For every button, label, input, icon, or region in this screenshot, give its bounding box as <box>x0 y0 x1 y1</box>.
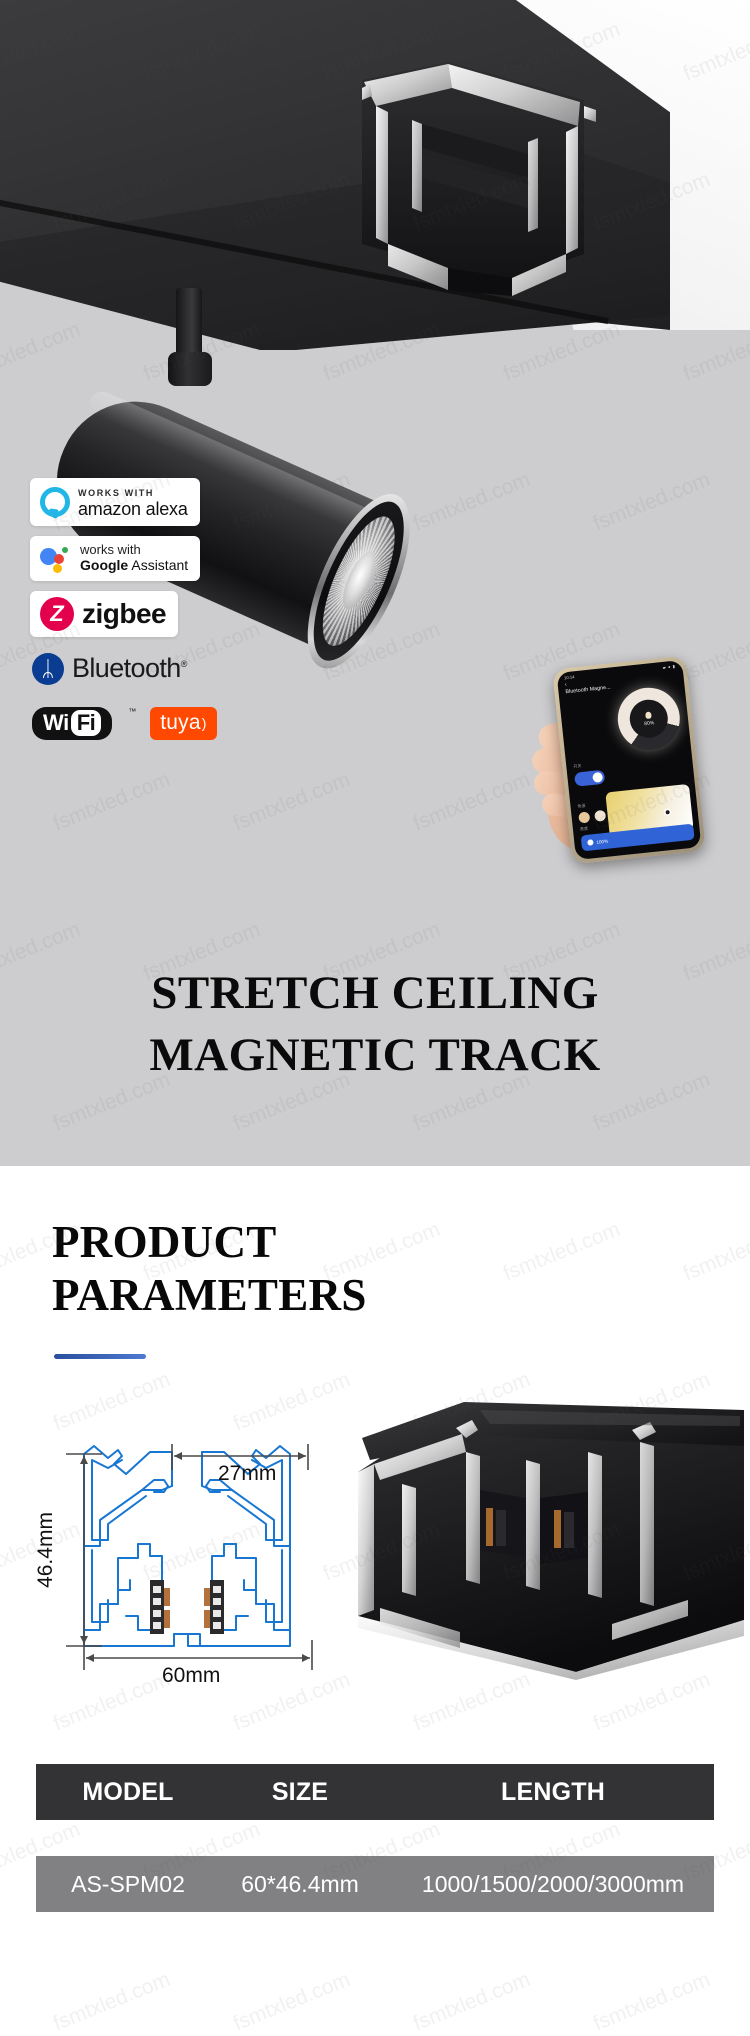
badge-amazon-alexa: WORKS WITH amazon alexa <box>30 478 200 526</box>
parameters-heading-line1: PRODUCT <box>52 1217 277 1267</box>
parameters-heading: PRODUCT PARAMETERS <box>52 1216 367 1322</box>
google-text: works with Google Assistant <box>80 542 188 575</box>
bluetooth-icon: ᛦ <box>32 653 64 685</box>
cell-size: 60*46.4mm <box>216 1871 384 1898</box>
alexa-ring-icon <box>40 487 70 517</box>
product-parameters-section: PRODUCT PARAMETERS <box>0 1166 750 1956</box>
hero-headline: STRETCH CEILING MAGNETIC TRACK <box>0 962 750 1086</box>
sun-icon <box>587 839 594 846</box>
table-row: AS-SPM02 60*46.4mm 1000/1500/2000/3000mm <box>36 1856 714 1912</box>
column-header-size: SIZE <box>216 1778 384 1807</box>
smartphone-mockup: 10:14 ▰ ● ▮ ‹ Bluetooth Magne... 80% 开关 … <box>552 656 706 865</box>
ceiling-track-photo <box>0 0 750 350</box>
specification-table: MODEL SIZE LENGTH AS-SPM02 60*46.4mm 100… <box>36 1764 714 1912</box>
column-header-length: LENGTH <box>384 1778 714 1807</box>
alexa-brand-label: amazon alexa <box>78 499 188 519</box>
compatibility-badge-list: WORKS WITH amazon alexa works with Googl… <box>30 478 290 746</box>
watermark-text: fsmtxled.com <box>50 1968 174 2036</box>
badge-bluetooth: ᛦ Bluetooth® <box>30 647 199 691</box>
zigbee-label: zigbee <box>82 598 166 630</box>
tuya-wave-glyph: ) <box>202 715 207 731</box>
phone-screen: 10:14 ▰ ● ▮ ‹ Bluetooth Magne... 80% 开关 … <box>557 660 702 860</box>
dimension-label-46mm: 46.4mm <box>34 1512 57 1588</box>
picker-handle[interactable] <box>665 810 669 814</box>
power-row: 开关 <box>566 751 694 787</box>
tuya-icon: tuya) <box>150 707 216 740</box>
dimension-label-60mm: 60mm <box>162 1664 220 1684</box>
track-rail-cross-section <box>352 58 614 296</box>
color-swatch[interactable] <box>594 810 606 822</box>
color-swatch[interactable] <box>578 811 590 823</box>
power-toggle[interactable] <box>574 770 605 787</box>
bluetooth-registered-mark: ® <box>181 659 187 669</box>
wifi-trademark: ™ <box>128 707 136 716</box>
brightness-value: 100% <box>596 838 608 844</box>
dial-center: 80% <box>628 698 670 740</box>
google-works-with-label: works with <box>80 542 141 557</box>
table-header-row: MODEL SIZE LENGTH <box>36 1764 714 1820</box>
cell-length: 1000/1500/2000/3000mm <box>384 1871 714 1898</box>
watermark-text: fsmtxled.com <box>230 1968 354 2036</box>
hero-section: 10:14 ▰ ● ▮ ‹ Bluetooth Magne... 80% 开关 … <box>0 0 750 1166</box>
badge-zigbee: Z zigbee <box>30 591 178 637</box>
google-assistant-dots-icon <box>40 545 72 571</box>
power-label: 开关 <box>566 751 692 770</box>
hero-headline-line1: STRETCH CEILING <box>151 967 599 1019</box>
brightness-dial[interactable]: 80% <box>615 685 683 753</box>
dial-percent: 80% <box>644 720 655 727</box>
column-header-model: MODEL <box>36 1778 216 1807</box>
track-extrusion-photo <box>340 1380 750 1680</box>
google-brand-label: Google Assistant <box>80 557 188 573</box>
alexa-text: WORKS WITH amazon alexa <box>78 484 188 520</box>
parameters-heading-line2: PARAMETERS <box>52 1270 367 1320</box>
wifi-icon: WiFi <box>32 707 112 740</box>
watermark-text: fsmtxled.com <box>410 1968 534 2036</box>
cell-model: AS-SPM02 <box>36 1871 216 1898</box>
zigbee-icon: Z <box>40 597 74 631</box>
badge-google-assistant: works with Google Assistant <box>30 536 200 581</box>
watermark-text: fsmtxled.com <box>590 1968 714 2036</box>
hero-headline-line2: MAGNETIC TRACK <box>149 1029 600 1081</box>
bulb-icon <box>645 711 652 719</box>
accent-underline <box>54 1354 146 1359</box>
wifi-fi-label: Fi <box>71 710 102 736</box>
dimension-label-27mm: 27mm <box>218 1462 276 1485</box>
alexa-works-with-label: WORKS WITH <box>78 488 154 498</box>
tuya-label: tuya <box>160 711 201 735</box>
badge-wifi-tuya-row: WiFi ™ tuya) <box>30 701 229 746</box>
wifi-wi-label: Wi <box>43 710 69 736</box>
bluetooth-label: Bluetooth® <box>72 653 187 684</box>
dimension-drawing: 27mm 46.4mm 60mm <box>22 1394 352 1684</box>
